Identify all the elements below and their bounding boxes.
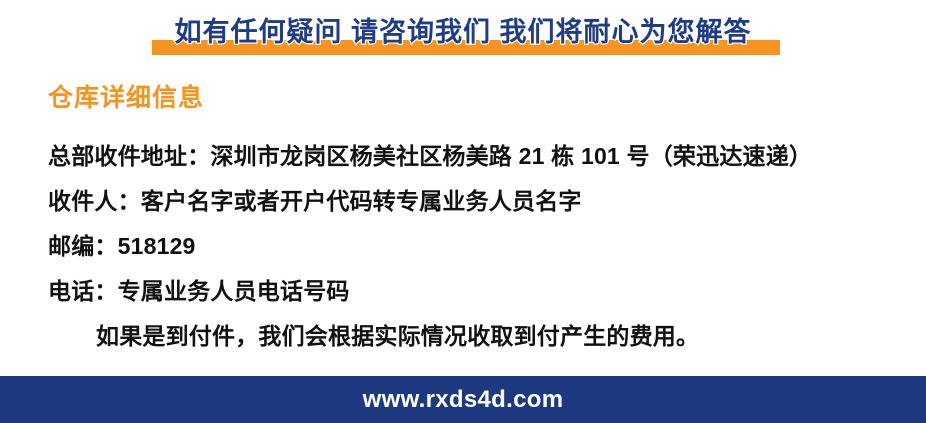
warehouse-details-list: 总部收件地址：深圳市龙岗区杨美社区杨美路 21 栋 101 号（荣迅达速递） 收… (48, 134, 908, 359)
footer-website-url[interactable]: www.rxds4d.com (363, 386, 564, 414)
detail-line-phone: 电话：专属业务人员电话号码 (48, 269, 908, 314)
detail-line-freight-collect-note: 如果是到付件，我们会根据实际情况收取到付产生的费用。 (48, 314, 908, 359)
footer-bar: www.rxds4d.com (0, 376, 926, 423)
detail-line-address: 总部收件地址：深圳市龙岗区杨美社区杨美路 21 栋 101 号（荣迅达速递） (48, 134, 908, 179)
detail-line-recipient: 收件人：客户名字或者开户代码转专属业务人员名字 (48, 179, 908, 224)
banner: 如有任何疑问 请咨询我们 我们将耐心为您解答 (0, 0, 926, 70)
banner-title: 如有任何疑问 请咨询我们 我们将耐心为您解答 (0, 15, 926, 49)
section-heading-warehouse-details: 仓库详细信息 (48, 82, 204, 114)
detail-line-postcode: 邮编：518129 (48, 224, 908, 269)
